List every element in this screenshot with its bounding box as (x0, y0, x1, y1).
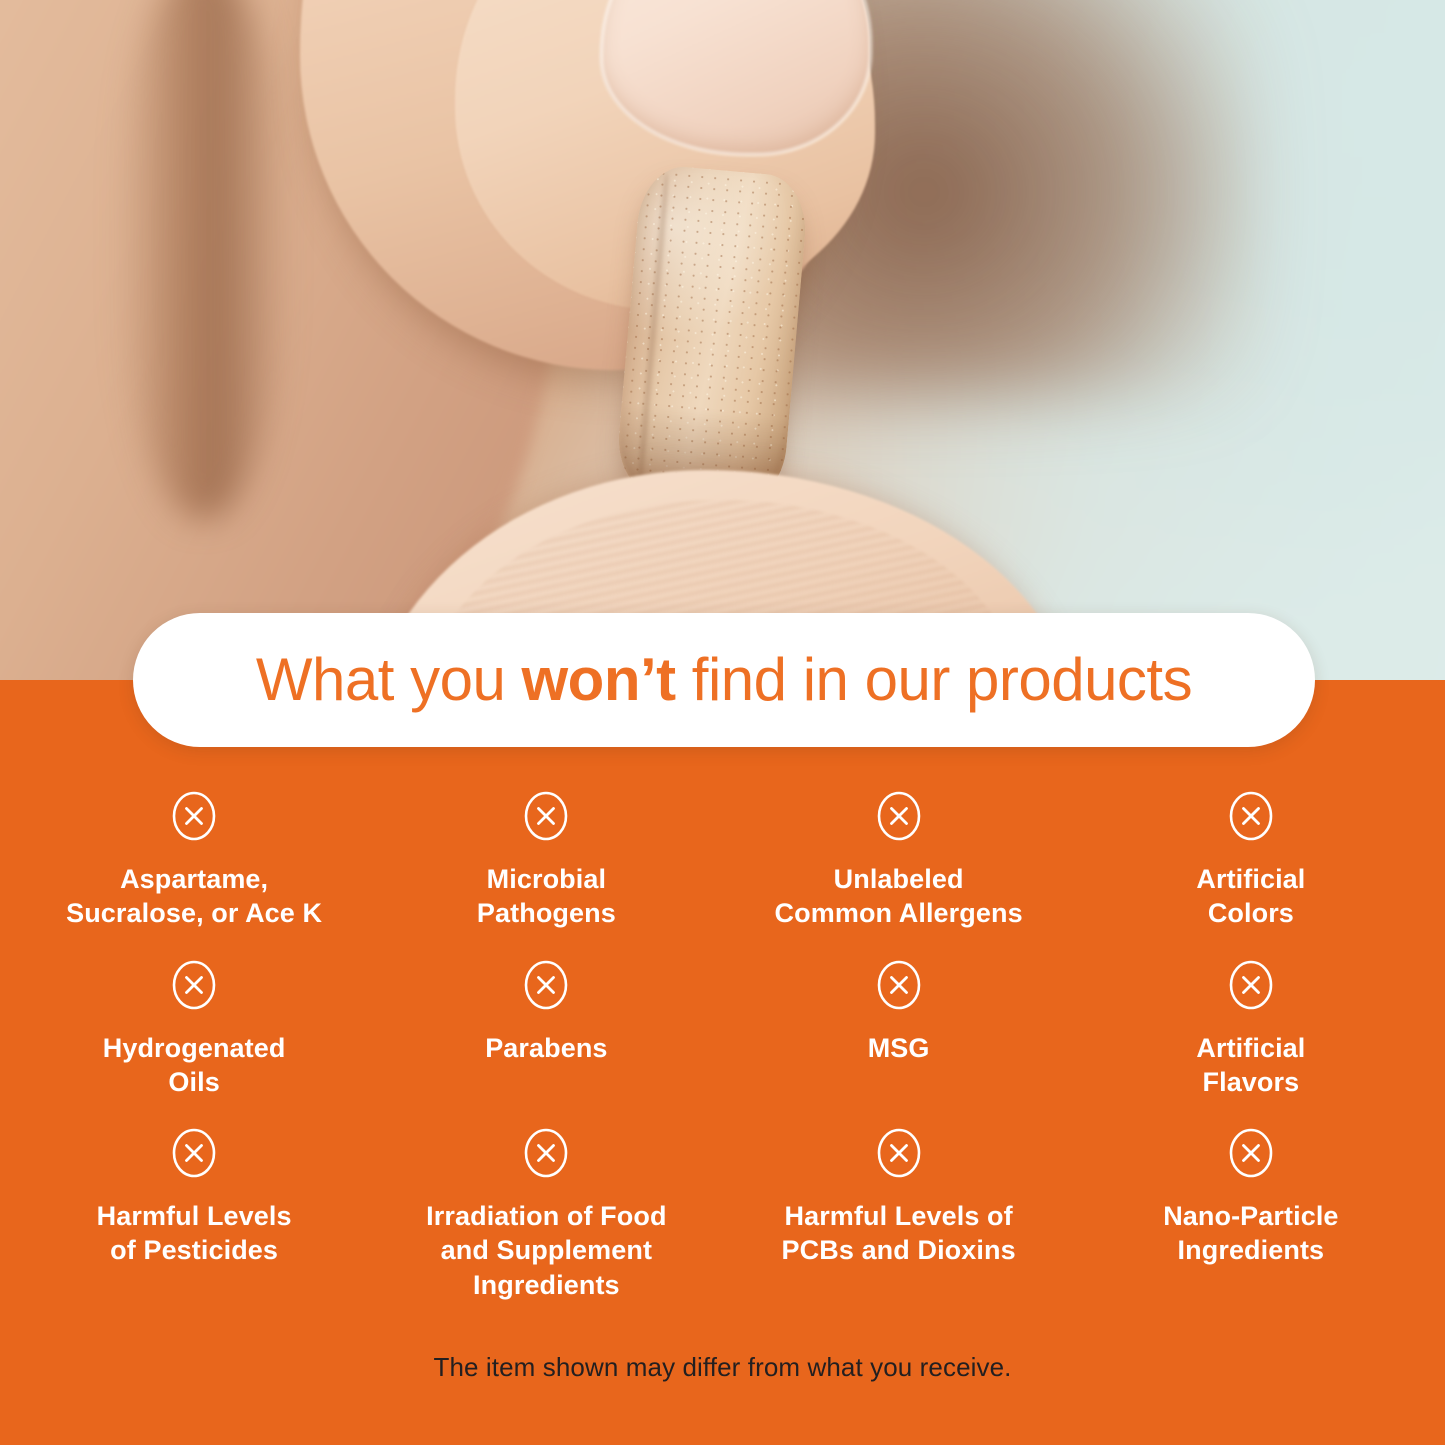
x-circle-icon (171, 1127, 217, 1179)
claim-item-label: Nano-Particle Ingredients (1163, 1199, 1338, 1268)
claim-item: Artificial Colors (1075, 790, 1427, 931)
x-circle-icon (1228, 1127, 1274, 1179)
title-part-1: What you (256, 646, 522, 713)
x-circle-icon (523, 1127, 569, 1179)
x-circle-icon (171, 959, 217, 1011)
claims-grid: Aspartame, Sucralose, or Ace KMicrobial … (18, 790, 1427, 1302)
claim-item-label: Harmful Levels of PCBs and Dioxins (782, 1199, 1016, 1268)
claim-item: Parabens (370, 959, 722, 1100)
title-pill: What you won’t find in our products (133, 613, 1315, 747)
claim-item-label: MSG (868, 1031, 930, 1065)
tablet-body (614, 163, 810, 506)
product-claims-poster: Aspartame, Sucralose, or Ace KMicrobial … (0, 0, 1445, 1445)
x-circle-icon (171, 790, 217, 842)
claim-item: Unlabeled Common Allergens (723, 790, 1075, 931)
claim-item-label: Parabens (485, 1031, 607, 1065)
page-title: What you won’t find in our products (256, 650, 1192, 710)
claim-item: Irradiation of Food and Supplement Ingre… (370, 1127, 722, 1302)
claim-item-label: Hydrogenated Oils (103, 1031, 286, 1100)
hero-photo (0, 0, 1445, 684)
claim-item-label: Unlabeled Common Allergens (775, 862, 1023, 931)
supplement-tablet (614, 163, 810, 506)
claim-item-label: Aspartame, Sucralose, or Ace K (66, 862, 322, 931)
title-emphasis: won’t (522, 646, 676, 713)
claim-item: MSG (723, 959, 1075, 1100)
x-circle-icon (523, 790, 569, 842)
claim-item-label: Artificial Colors (1196, 862, 1305, 931)
claim-item-label: Harmful Levels of Pesticides (97, 1199, 292, 1268)
claim-item-label: Artificial Flavors (1196, 1031, 1305, 1100)
claim-item: Nano-Particle Ingredients (1075, 1127, 1427, 1302)
claim-item-label: Microbial Pathogens (477, 862, 616, 931)
claim-item: Artificial Flavors (1075, 959, 1427, 1100)
claims-panel: Aspartame, Sucralose, or Ace KMicrobial … (0, 680, 1445, 1445)
x-circle-icon (1228, 959, 1274, 1011)
claim-item: Microbial Pathogens (370, 790, 722, 931)
x-circle-icon (876, 1127, 922, 1179)
claim-item: Harmful Levels of Pesticides (18, 1127, 370, 1302)
x-circle-icon (876, 959, 922, 1011)
claim-item: Hydrogenated Oils (18, 959, 370, 1100)
x-circle-icon (523, 959, 569, 1011)
claim-item: Aspartame, Sucralose, or Ace K (18, 790, 370, 931)
claim-item: Harmful Levels of PCBs and Dioxins (723, 1127, 1075, 1302)
disclaimer-text: The item shown may differ from what you … (0, 1352, 1445, 1383)
title-part-2: find in our products (676, 646, 1192, 713)
claim-item-label: Irradiation of Food and Supplement Ingre… (426, 1199, 666, 1302)
x-circle-icon (1228, 790, 1274, 842)
x-circle-icon (876, 790, 922, 842)
